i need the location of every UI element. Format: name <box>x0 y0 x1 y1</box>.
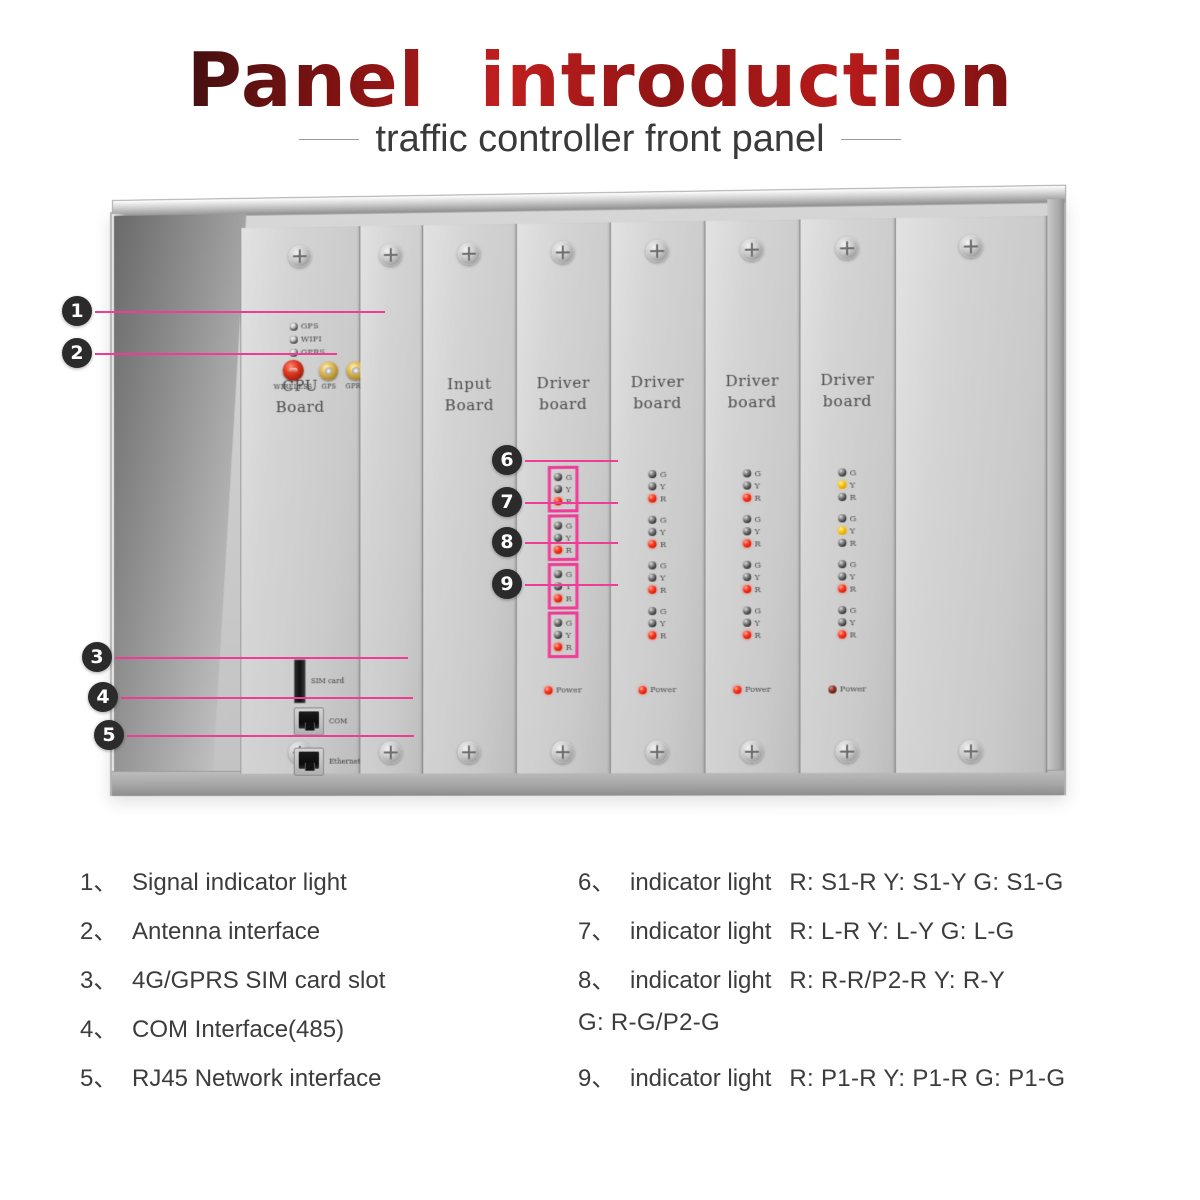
card-label-input-board: InputBoard <box>423 373 516 416</box>
device-photo-area: CPUBoardGPSWIFIGPRSWIRELESSGPSGPRSWIFISI… <box>0 190 1200 850</box>
screw-bottom-icon <box>741 741 764 763</box>
led-row: G <box>554 519 572 531</box>
led-group-2: GYR <box>647 511 669 554</box>
signal-led-label: GPS <box>301 321 319 330</box>
led-row: R <box>554 592 572 604</box>
screw-top-icon <box>552 241 574 264</box>
led-row: G <box>743 513 761 525</box>
screw-bottom-icon <box>380 741 402 763</box>
led-r-icon <box>649 631 657 639</box>
led-label: Y <box>566 533 571 542</box>
led-row: G <box>838 558 856 570</box>
led-group-2: GYR <box>836 509 858 552</box>
led-label: R <box>755 539 761 548</box>
card-label-driver-board-1: Driverboard <box>517 372 610 416</box>
screw-top-icon <box>741 238 764 261</box>
led-label: G <box>566 570 573 579</box>
screw-top-icon <box>458 243 480 266</box>
signal-led-icon <box>290 322 298 330</box>
led-row: R <box>838 537 856 549</box>
led-label: Y <box>850 480 855 489</box>
led-label: Y <box>566 630 571 639</box>
led-row: Y <box>838 524 856 536</box>
led-row: Y <box>649 526 667 538</box>
led-label: Y <box>755 527 760 536</box>
card-blank-board-2 <box>896 216 1048 773</box>
led-g-icon <box>554 522 562 530</box>
led-label: Y <box>850 526 855 535</box>
led-row: Y <box>554 483 572 495</box>
led-label: R <box>755 585 761 594</box>
legend-text: COM Interface(485) <box>132 1016 344 1044</box>
led-row: R <box>649 492 667 504</box>
led-label: Y <box>850 572 855 581</box>
led-g-icon <box>838 560 846 568</box>
led-y-icon <box>554 485 562 493</box>
led-row: G <box>743 604 761 616</box>
led-group-4: GYR <box>548 611 578 658</box>
card-driver-board-3: DriverboardGYRGYRGYRGYRPower <box>705 219 800 773</box>
card-label-line2: board <box>611 393 704 415</box>
page-title: Panel introduction <box>0 36 1200 124</box>
led-row: G <box>838 466 856 478</box>
led-label: Y <box>755 618 760 627</box>
led-row: Y <box>649 617 667 629</box>
legend-number: 3、 <box>80 960 132 995</box>
led-group-1: GYR <box>741 464 763 507</box>
signal-indicator-leds: GPSWIFIGPRS <box>290 319 325 359</box>
led-row: R <box>554 495 572 507</box>
led-label: G <box>566 472 573 481</box>
led-r-icon <box>554 497 562 505</box>
screw-bottom-icon <box>646 741 669 763</box>
led-label: R <box>566 545 572 554</box>
led-row: R <box>743 537 761 549</box>
led-row: G <box>554 471 572 483</box>
legend-codes: R: L-R Y: L-Y G: L-G <box>789 918 1014 946</box>
led-g-icon <box>743 561 751 569</box>
led-row: G <box>743 559 761 571</box>
led-stack: GYRGYRGYRGYR <box>548 466 578 660</box>
led-row: Y <box>743 525 761 537</box>
led-row: Y <box>743 479 761 491</box>
legend-item: 1、Signal indicator light <box>80 862 560 911</box>
com-port-icon[interactable] <box>294 707 324 735</box>
legend-item: G: R-G/P2-G <box>578 1009 1198 1058</box>
legend-number: 6、 <box>578 862 630 897</box>
led-y-icon <box>649 619 657 627</box>
led-label: G <box>660 469 667 478</box>
led-r-icon <box>743 631 751 639</box>
led-row: Y <box>554 532 572 544</box>
callout-badge-1[interactable]: 1 <box>62 296 92 326</box>
legend-text: RJ45 Network interface <box>132 1065 381 1093</box>
led-y-icon <box>838 526 846 534</box>
power-led-icon <box>639 686 647 694</box>
callout-badge-6[interactable]: 6 <box>492 445 522 475</box>
led-y-icon <box>649 528 657 536</box>
led-row: Y <box>743 571 761 583</box>
led-r-icon <box>554 546 562 554</box>
ethernet-port[interactable]: Ethernet <box>294 748 361 776</box>
led-label: G <box>850 605 857 614</box>
power-label: Power <box>840 684 866 693</box>
led-row: Y <box>838 478 856 490</box>
led-row: R <box>743 492 761 504</box>
card-label-line2: board <box>705 391 799 413</box>
led-label: R <box>850 492 856 501</box>
card-label-line2: Board <box>241 396 359 418</box>
led-row: G <box>838 604 856 616</box>
power-indicator: Power <box>733 685 770 694</box>
power-label: Power <box>650 685 676 694</box>
led-row: G <box>649 559 667 571</box>
led-r-icon <box>743 585 751 593</box>
led-r-icon <box>838 630 846 638</box>
led-g-icon <box>649 561 657 569</box>
led-label: Y <box>660 527 665 536</box>
led-r-icon <box>743 539 751 547</box>
led-label: R <box>660 631 666 640</box>
led-g-icon <box>743 515 751 523</box>
legend-item: 9、indicator lightR: P1-R Y: P1-R G: P1-G <box>578 1058 1198 1107</box>
led-row: Y <box>649 571 667 583</box>
led-group-4: GYR <box>647 602 669 645</box>
subtitle-rule-right <box>841 139 901 140</box>
led-label: G <box>755 560 762 569</box>
led-r-icon <box>838 585 846 593</box>
led-label: G <box>850 560 857 569</box>
legend-item: 2、Antenna interface <box>80 911 560 960</box>
led-y-icon <box>838 618 846 626</box>
led-r-icon <box>838 539 846 547</box>
screw-bottom-icon <box>552 741 574 763</box>
led-label: Y <box>850 618 855 627</box>
led-group-2: GYR <box>741 510 763 553</box>
legend-number: 2、 <box>80 911 132 946</box>
led-row: R <box>838 628 856 640</box>
led-g-icon <box>838 606 846 614</box>
led-label: G <box>850 514 857 523</box>
led-label: R <box>566 642 572 651</box>
led-y-icon <box>743 527 751 535</box>
legend-column-left: 1、Signal indicator light2、Antenna interf… <box>80 862 560 1107</box>
led-row: Y <box>649 480 667 492</box>
led-g-icon <box>554 473 562 481</box>
ethernet-port-icon[interactable] <box>294 748 324 776</box>
legend-codes: R: P1-R Y: P1-R G: P1-G <box>789 1065 1065 1093</box>
led-group-4: GYR <box>836 601 858 644</box>
led-row: G <box>838 512 856 524</box>
legend-text: indicator light <box>630 869 771 897</box>
legend-codes: R: R-R/P2-R Y: R-Y <box>789 967 1005 995</box>
led-row: R <box>554 641 572 653</box>
power-led-icon <box>545 686 553 694</box>
led-y-icon <box>554 631 562 639</box>
led-r-icon <box>649 494 657 502</box>
led-label: R <box>755 630 761 639</box>
led-row: R <box>554 544 572 556</box>
led-group-1: GYR <box>647 465 669 508</box>
led-y-icon <box>554 534 562 542</box>
screw-bottom-icon <box>836 740 859 762</box>
led-label: G <box>755 469 762 478</box>
antenna-label: WIRELESS <box>274 383 313 391</box>
led-g-icon <box>838 514 846 522</box>
led-label: R <box>755 493 761 502</box>
legend-codes: G: R-G/P2-G <box>578 1009 720 1037</box>
led-row: G <box>649 605 667 617</box>
led-label: G <box>850 468 857 477</box>
led-y-icon <box>649 574 657 582</box>
led-g-icon <box>649 470 657 478</box>
sim-card-slot-label: SIM card <box>311 677 344 685</box>
callout-badge-8[interactable]: 8 <box>492 527 522 557</box>
led-label: R <box>660 539 666 548</box>
led-row: Y <box>554 580 572 592</box>
led-group-1: GYR <box>548 466 578 513</box>
screw-bottom-icon <box>458 741 480 763</box>
signal-led-row: WIFI <box>290 332 325 346</box>
screw-top-icon <box>646 240 669 263</box>
card-cpu-board: CPUBoardGPSWIFIGPRSWIRELESSGPSGPRSWIFISI… <box>240 226 360 774</box>
led-label: G <box>660 606 667 615</box>
led-label: R <box>660 494 666 503</box>
led-stack: GYRGYRGYRGYR <box>647 465 669 648</box>
led-label: Y <box>755 481 760 490</box>
led-r-icon <box>838 493 846 501</box>
card-label-line1: Driver <box>611 371 704 393</box>
ethernet-port-label: Ethernet <box>329 758 361 766</box>
legend-item: 6、indicator lightR: S1-R Y: S1-Y G: S1-G <box>578 862 1198 911</box>
led-row: Y <box>838 616 856 628</box>
led-group-4: GYR <box>741 601 763 644</box>
card-label-driver-board-3: Driverboard <box>705 370 799 414</box>
legend-number: 1、 <box>80 862 132 897</box>
led-label: G <box>755 514 762 523</box>
led-r-icon <box>649 586 657 594</box>
antenna-label: GPS <box>322 382 337 390</box>
led-group-2: GYR <box>548 514 578 561</box>
led-g-icon <box>838 468 846 476</box>
led-group-3: GYR <box>548 563 578 610</box>
signal-led-icon <box>290 348 298 356</box>
callout-badge-4[interactable]: 4 <box>88 682 118 712</box>
screw-top-icon <box>289 245 311 267</box>
led-row: G <box>649 468 667 480</box>
antenna-connector[interactable]: WIRELESS <box>274 360 313 392</box>
power-indicator: Power <box>829 684 867 693</box>
power-indicator: Power <box>639 685 676 694</box>
led-row: Y <box>554 629 572 641</box>
legend: 1、Signal indicator light2、Antenna interf… <box>0 862 1200 1192</box>
card-label-line1: Driver <box>517 372 610 394</box>
screw-top-icon <box>959 235 982 258</box>
led-row: G <box>554 568 572 580</box>
power-led-icon <box>733 685 741 693</box>
led-y-icon <box>743 481 751 489</box>
sim-card-slot[interactable]: SIM card <box>294 659 344 703</box>
led-label: Y <box>566 582 571 591</box>
led-label: R <box>660 585 666 594</box>
led-row: R <box>649 584 667 596</box>
led-r-icon <box>649 540 657 548</box>
led-label: R <box>566 497 572 506</box>
led-g-icon <box>649 607 657 615</box>
screw-top-icon <box>380 244 402 266</box>
led-y-icon <box>649 482 657 490</box>
led-y-icon <box>743 619 751 627</box>
callout-badge-2[interactable]: 2 <box>62 338 92 368</box>
card-driver-board-2: DriverboardGYRGYRGYRGYRPower <box>611 221 705 773</box>
led-group-3: GYR <box>836 555 858 598</box>
led-label: R <box>850 538 856 547</box>
antenna-jack-icon[interactable] <box>319 361 338 380</box>
sim-card-slot-icon[interactable] <box>294 659 306 703</box>
legend-text: 4G/GPRS SIM card slot <box>132 967 385 995</box>
led-g-icon <box>649 516 657 524</box>
led-group-1: GYR <box>836 463 858 506</box>
led-g-icon <box>554 570 562 578</box>
led-r-icon <box>554 594 562 602</box>
page-subtitle: traffic controller front panel <box>375 118 824 161</box>
signal-led-icon <box>290 335 298 343</box>
legend-item: 3、4G/GPRS SIM card slot <box>80 960 560 1009</box>
led-label: Y <box>566 485 571 494</box>
card-label-driver-board-4: Driverboard <box>800 369 894 413</box>
led-row: R <box>743 629 761 641</box>
card-label-line1: Driver <box>800 369 894 391</box>
led-row: R <box>838 491 856 503</box>
card-label-line1: Input <box>423 373 516 395</box>
led-row: G <box>554 617 572 629</box>
screw-top-icon <box>836 237 859 260</box>
legend-number: 9、 <box>578 1058 630 1093</box>
card-driver-board-1: DriverboardGYRGYRGYRGYRPower <box>517 222 611 773</box>
legend-item: 4、COM Interface(485) <box>80 1009 560 1058</box>
led-label: G <box>660 561 667 570</box>
chassis-left-interior-wall <box>114 214 246 792</box>
led-g-icon <box>743 606 751 614</box>
led-r-icon <box>554 643 562 651</box>
signal-led-row: GPRS <box>290 345 325 358</box>
legend-item: 7、indicator lightR: L-R Y: L-Y G: L-G <box>578 911 1198 960</box>
led-row: G <box>743 467 761 479</box>
screw-bottom-icon <box>959 740 982 763</box>
chassis-right-edge <box>1047 199 1064 793</box>
led-group-3: GYR <box>741 556 763 599</box>
legend-number: 4、 <box>80 1009 132 1044</box>
led-label: G <box>566 618 573 627</box>
power-indicator: Power <box>545 685 582 694</box>
callout-badge-7[interactable]: 7 <box>492 487 522 517</box>
led-y-icon <box>838 572 846 580</box>
led-y-icon <box>838 481 846 489</box>
card-slots-container: CPUBoardGPSWIFIGPRSWIRELESSGPSGPRSWIFISI… <box>240 216 1047 774</box>
led-row: G <box>649 514 667 526</box>
power-led-icon <box>829 685 837 693</box>
card-label-line2: Board <box>423 395 516 417</box>
signal-led-label: WIFI <box>301 334 322 343</box>
legend-column-right: 6、indicator lightR: S1-R Y: S1-Y G: S1-G… <box>578 862 1198 1107</box>
led-label: Y <box>755 572 760 581</box>
page-header: Panel introduction traffic controller fr… <box>0 0 1200 190</box>
led-label: Y <box>660 573 665 582</box>
power-label: Power <box>556 685 582 694</box>
led-stack: GYRGYRGYRGYR <box>836 463 858 647</box>
power-label: Power <box>745 685 771 694</box>
led-r-icon <box>743 494 751 502</box>
callout-badge-9[interactable]: 9 <box>492 569 522 599</box>
led-row: R <box>838 582 856 594</box>
led-g-icon <box>554 619 562 627</box>
chassis-top-lip <box>112 185 1066 218</box>
legend-text: indicator light <box>630 918 771 946</box>
legend-number: 5、 <box>80 1058 132 1093</box>
led-label: G <box>660 515 667 524</box>
led-label: G <box>755 606 762 615</box>
led-label: Y <box>660 619 665 628</box>
card-label-driver-board-2: Driverboard <box>611 371 704 415</box>
antenna-connector[interactable]: GPS <box>319 361 338 390</box>
com-port-label: COM <box>329 717 347 725</box>
legend-codes: R: S1-R Y: S1-Y G: S1-G <box>789 869 1063 897</box>
led-label: R <box>850 584 856 593</box>
signal-led-row: GPS <box>290 319 325 333</box>
legend-text: Signal indicator light <box>132 869 347 897</box>
com-port[interactable]: COM <box>294 707 348 735</box>
led-label: R <box>566 594 572 603</box>
led-row: R <box>743 583 761 595</box>
legend-number: 8、 <box>578 960 630 995</box>
antenna-jack-icon[interactable] <box>282 360 303 381</box>
subtitle-rule-left <box>299 139 359 140</box>
legend-number: 7、 <box>578 911 630 946</box>
led-g-icon <box>743 469 751 477</box>
legend-text: indicator light <box>630 967 771 995</box>
callout-badge-5[interactable]: 5 <box>94 720 124 750</box>
card-driver-board-4: DriverboardGYRGYRGYRGYRPower <box>800 218 895 773</box>
legend-text: Antenna interface <box>132 918 320 946</box>
signal-led-label: GPRS <box>301 347 325 356</box>
led-row: R <box>649 538 667 550</box>
callout-badge-3[interactable]: 3 <box>82 642 112 672</box>
led-y-icon <box>554 582 562 590</box>
legend-item: 8、indicator lightR: R-R/P2-R Y: R-Y <box>578 960 1198 1009</box>
led-y-icon <box>743 573 751 581</box>
card-label-line2: board <box>517 394 610 416</box>
led-row: Y <box>743 617 761 629</box>
legend-item: 5、RJ45 Network interface <box>80 1058 560 1107</box>
card-blank-board-1 <box>360 225 423 773</box>
subtitle-row: traffic controller front panel <box>0 118 1200 161</box>
led-row: Y <box>838 570 856 582</box>
card-label-line2: board <box>800 390 894 412</box>
led-group-3: GYR <box>647 556 669 599</box>
card-label-line1: Driver <box>705 370 799 392</box>
controller-chassis: CPUBoardGPSWIFIGPRSWIRELESSGPSGPRSWIFISI… <box>110 197 1066 796</box>
led-label: G <box>566 521 573 530</box>
led-stack: GYRGYRGYRGYR <box>741 464 763 647</box>
led-label: R <box>850 630 856 639</box>
led-row: R <box>649 629 667 641</box>
led-label: Y <box>660 482 665 491</box>
legend-text: indicator light <box>630 1065 771 1093</box>
